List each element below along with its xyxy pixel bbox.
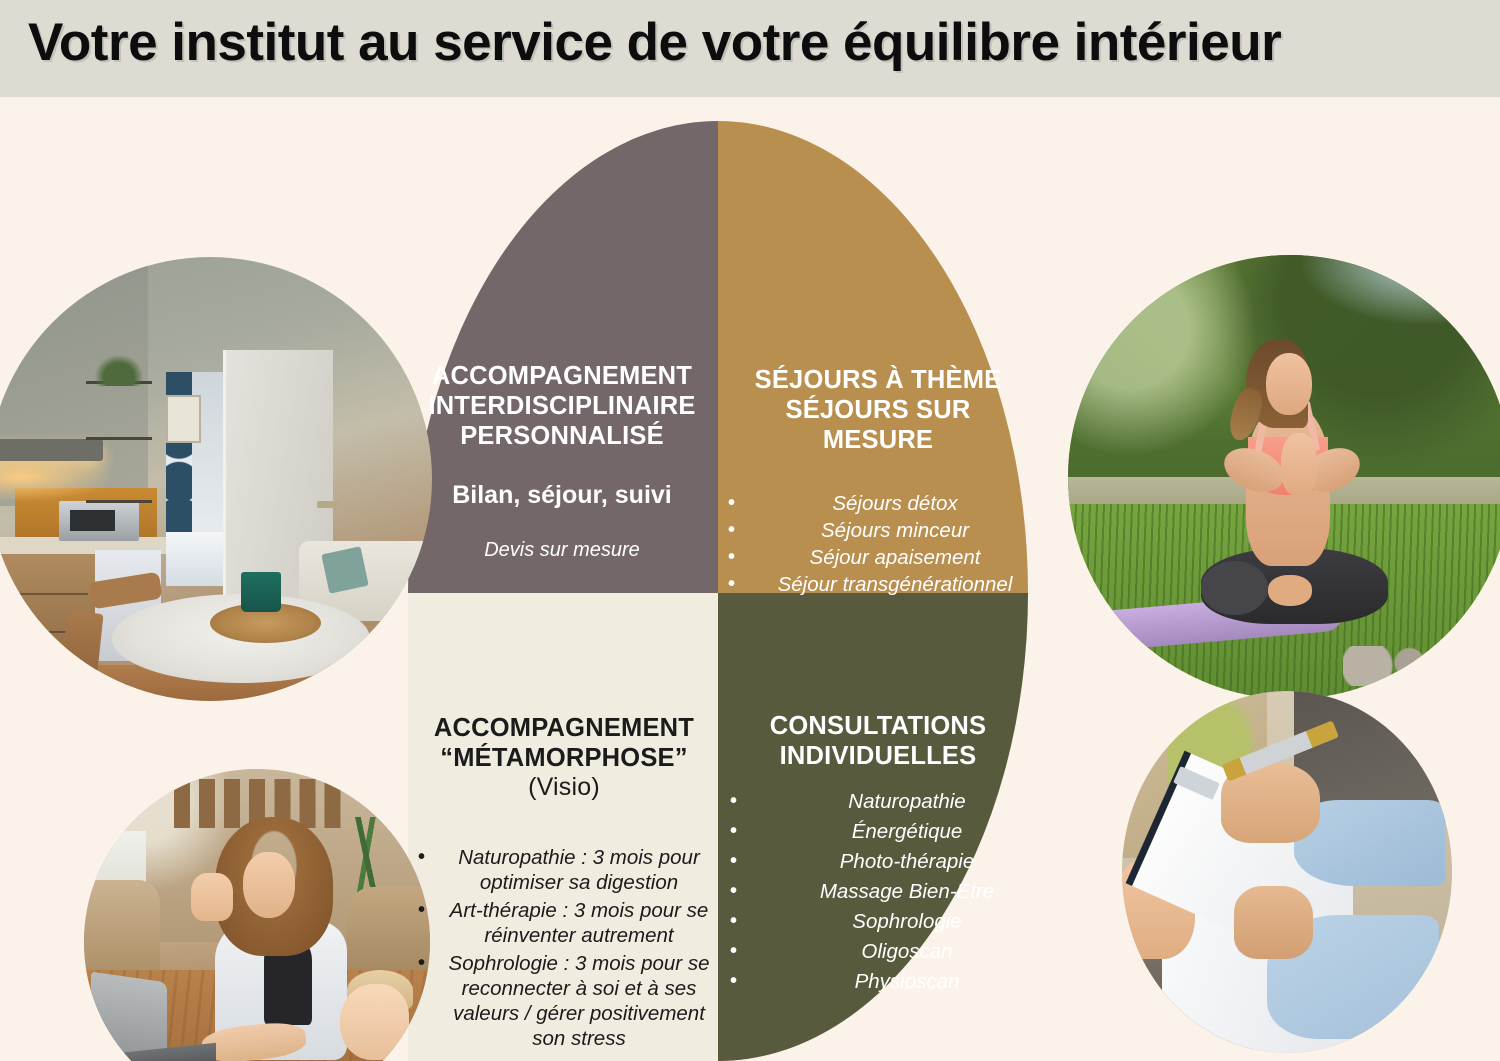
list-item: • Physioscan — [730, 969, 1026, 994]
quadrant-heading-line-1: CONSULTATIONS — [730, 711, 1026, 741]
photo-detail-plant — [340, 817, 395, 893]
photo-detail-vase — [241, 572, 281, 612]
bullet-icon: • — [730, 849, 737, 873]
photo-detail-door-handle — [317, 501, 339, 508]
bullet-icon: • — [418, 845, 425, 869]
quadrant-note: Devis sur mesure — [412, 539, 712, 563]
bullet-icon: • — [728, 518, 735, 542]
bullet-icon: • — [728, 491, 735, 515]
list-item-label: Sophrologie : 3 mois pour se reconnecter… — [449, 952, 710, 1050]
visio-consultation-photo: Femme souriante saluant devant son ordin… — [84, 769, 430, 1061]
quadrant-list: • Naturopathie • Énergétique • Photo-thé… — [730, 789, 1026, 994]
list-item: • Séjours détox — [728, 491, 1028, 516]
list-item-label: Naturopathie — [848, 790, 965, 813]
list-item-label: Naturopathie : 3 mois pour optimiser sa … — [458, 846, 700, 894]
bullet-icon: • — [728, 545, 735, 569]
list-item-label: Séjours détox — [832, 492, 957, 515]
bullet-icon: • — [730, 819, 737, 843]
quadrant-text-consultations-individuelles: CONSULTATIONS INDIVIDUELLES • Naturopath… — [730, 711, 1026, 999]
list-item: • Naturopathie : 3 mois pour optimiser s… — [418, 845, 710, 895]
photo-detail-plant — [95, 355, 144, 386]
quadrant-heading-line-2: “MÉTAMORPHOSE” — [418, 743, 710, 773]
quadrant-heading: SÉJOURS À THÈME SÉJOURS SUR MESURE — [728, 365, 1028, 455]
infographic-page: Votre institut au service de votre équil… — [0, 0, 1500, 1061]
quadrant-list: • Naturopathie : 3 mois pour optimiser s… — [418, 845, 710, 1051]
bullet-icon: • — [730, 909, 737, 933]
quadrant-heading: ACCOMPAGNEMENT INTERDISCIPLINAIRE PERSON… — [412, 361, 712, 451]
quadrant-text-sejours: SÉJOURS À THÈME SÉJOURS SUR MESURE • Séj… — [728, 365, 1028, 599]
photo-detail-waving-hand — [191, 873, 233, 921]
apartment-interior-photo: Intérieur d'un logement : cuisine équipé… — [0, 257, 432, 701]
list-item: • Oligoscan — [730, 939, 1026, 964]
photo-detail-laptop-screen — [91, 971, 167, 1061]
photo-detail-face — [243, 852, 295, 918]
list-item: • Massage Bien-Etre — [730, 879, 1026, 904]
list-item-label: Séjour apaisement — [810, 546, 981, 569]
list-item: • Naturopathie — [730, 789, 1026, 814]
list-item-label: Photo-thérapie — [840, 850, 974, 873]
list-item-label: Séjours minceur — [821, 519, 969, 542]
list-item-label: Oligoscan — [861, 940, 952, 963]
quadrant-heading-line-1: ACCOMPAGNEMENT — [418, 713, 710, 743]
list-item: • Sophrologie : 3 mois pour se reconnect… — [418, 951, 710, 1051]
list-item: • Séjours minceur — [728, 518, 1028, 543]
photo-detail-foot — [1268, 575, 1312, 606]
photo-detail-baby — [340, 984, 409, 1060]
photo-detail-bed — [166, 532, 224, 585]
photo-detail-chair-left — [84, 880, 160, 984]
list-item-label: Massage Bien-Etre — [820, 880, 994, 903]
list-item: • Sophrologie — [730, 909, 1026, 934]
list-item: • Énergétique — [730, 819, 1026, 844]
list-item-label: Séjour transgénérationnel — [778, 573, 1013, 596]
bullet-icon: • — [730, 789, 737, 813]
list-item-label: Énergétique — [852, 820, 963, 843]
quadrant-heading-line-2: INDIVIDUELLES — [730, 741, 1026, 771]
quadrant-heading-line-3: (Visio) — [418, 773, 710, 803]
quadrant-text-accompagnement-metamorphose: ACCOMPAGNEMENT “MÉTAMORPHOSE” (Visio) • … — [418, 713, 710, 1054]
list-item: • Photo-thérapie — [730, 849, 1026, 874]
list-item-label: Sophrologie — [852, 910, 961, 933]
list-item: • Séjour transgénérationnel — [728, 572, 1028, 597]
photo-detail-sky — [1299, 255, 1500, 326]
bullet-icon: • — [418, 951, 425, 975]
quadrant-heading: ACCOMPAGNEMENT “MÉTAMORPHOSE” (Visio) — [418, 713, 710, 803]
quadrant-heading: CONSULTATIONS INDIVIDUELLES — [730, 711, 1026, 771]
quadrant-heading-line-1: SÉJOURS À THÈME — [728, 365, 1028, 395]
photo-detail-face — [1266, 353, 1313, 415]
list-item: • Séjour apaisement — [728, 545, 1028, 570]
quadrant-heading-line-1: ACCOMPAGNEMENT — [412, 361, 712, 391]
list-item-label: Art-thérapie : 3 mois pour se réinventer… — [450, 899, 709, 947]
individual-consultation-photo: Praticien en chemise bleue écrivant avec… — [1122, 691, 1452, 1053]
photo-detail-knee — [1201, 561, 1268, 614]
quadrant-diagram: Intérieur d'un logement : cuisine équipé… — [0, 97, 1500, 1061]
quadrant-subtitle: Bilan, séjour, suivi — [412, 481, 712, 511]
photo-detail-hand-lower — [1234, 886, 1313, 958]
quadrant-list: • Séjours détox • Séjours minceur • Séjo… — [728, 491, 1028, 597]
bullet-icon: • — [418, 898, 425, 922]
bullet-icon: • — [728, 572, 735, 596]
page-title: Votre institut au service de votre équil… — [28, 12, 1478, 73]
quadrant-text-accompagnement-interdisciplinaire: ACCOMPAGNEMENT INTERDISCIPLINAIRE PERSON… — [412, 361, 712, 562]
bullet-icon: • — [730, 939, 737, 963]
bullet-icon: • — [730, 969, 737, 993]
list-item-label: Physioscan — [855, 970, 960, 993]
quadrant-heading-line-2: INTERDISCIPLINAIRE — [412, 391, 712, 421]
list-item: • Art-thérapie : 3 mois pour se réinvent… — [418, 898, 710, 948]
header-bar: Votre institut au service de votre équil… — [0, 0, 1500, 97]
yoga-meditation-photo: Femme en méditation, mains jointes, assi… — [1068, 255, 1500, 699]
quadrant-heading-line-3: PERSONNALISÉ — [412, 421, 712, 451]
photo-detail-oven — [59, 501, 139, 541]
photo-detail-praying-hands — [1281, 433, 1317, 495]
photo-detail-shelf — [86, 381, 153, 502]
photo-detail-cushion — [322, 546, 369, 593]
photo-detail-picture-frame — [166, 395, 201, 443]
quadrant-heading-line-2: SÉJOURS SUR MESURE — [728, 395, 1028, 455]
bullet-icon: • — [730, 879, 737, 903]
photo-detail-stones — [1343, 646, 1476, 686]
